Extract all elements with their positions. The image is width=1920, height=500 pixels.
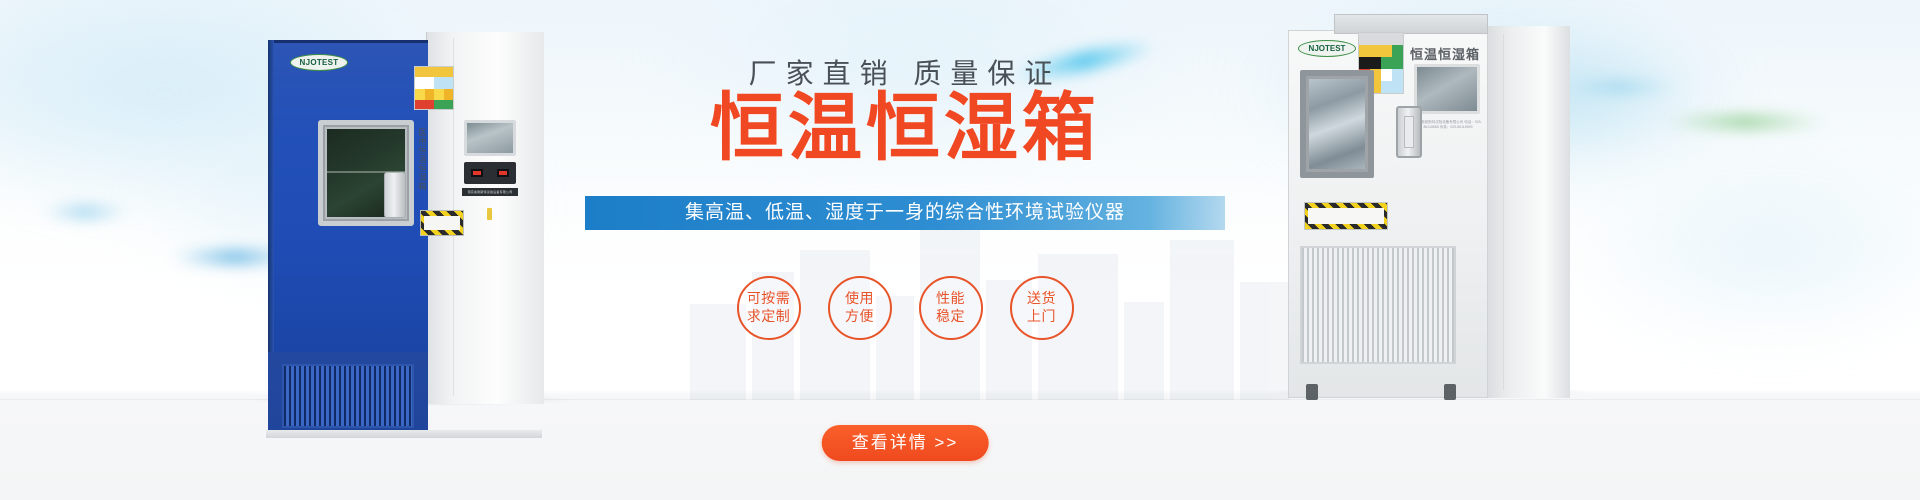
feature-badge-line1: 送货 <box>1027 290 1056 308</box>
feature-badge-line1: 性能 <box>936 290 965 308</box>
feature-badge-line2: 求定制 <box>747 308 791 326</box>
page-title: 恒温恒湿箱 <box>585 88 1225 168</box>
left-maker-strip: 南京奥耐斯特试验设备有限公司 <box>462 188 518 196</box>
product-image-left: NJOTEST 医用恒温恒湿箱 南京奥耐斯特试验设备有限公司 <box>268 32 544 404</box>
left-hazard-tape <box>420 210 464 236</box>
left-warning-label <box>414 66 454 110</box>
feature-badge-line1: 使用 <box>845 290 874 308</box>
promo-banner: NJOTEST 医用恒温恒湿箱 南京奥耐斯特试验设备有限公司 NJOTEST 恒… <box>0 0 1920 500</box>
cloud-wisp <box>1560 150 1920 350</box>
feature-badge-line2: 稳定 <box>936 308 965 326</box>
feature-badge[interactable]: 性能稳定 <box>919 276 983 340</box>
subtitle-bar: 集高温、低温、湿度于一身的综合性环境试验仪器 <box>585 196 1225 230</box>
light-streak <box>1560 80 1680 94</box>
right-maker-text: 南京奥耐斯特试验设备有限公司 电话：025-86118888 传真：025-86… <box>1414 120 1482 131</box>
right-cabinet-leg <box>1444 384 1456 400</box>
feature-badge-line1: 可按需 <box>747 290 791 308</box>
banner-content: 厂家直销 质量保证 恒温恒湿箱 集高温、低温、湿度于一身的综合性环境试验仪器 可… <box>585 0 1225 500</box>
feature-badge-line2: 方便 <box>845 308 874 326</box>
right-cabinet-leg <box>1306 384 1318 400</box>
feature-badge[interactable]: 使用方便 <box>828 276 892 340</box>
right-vent-grille <box>1300 246 1456 364</box>
left-cabinet-door-edge <box>268 40 274 352</box>
right-hazard-tape <box>1304 202 1388 230</box>
left-touch-screen <box>464 120 516 156</box>
right-view-window <box>1300 70 1374 178</box>
left-cabinet-latch <box>487 208 492 220</box>
left-brand-logo: NJOTEST <box>290 54 348 71</box>
right-door-handle <box>1396 106 1422 158</box>
right-cabinet-top-vent <box>1334 14 1488 34</box>
feature-badge[interactable]: 可按需求定制 <box>737 276 801 340</box>
left-control-readout <box>464 162 516 184</box>
left-door-handle <box>384 172 406 218</box>
feature-badge-list: 可按需求定制使用方便性能稳定送货上门 <box>585 276 1225 340</box>
right-touch-screen <box>1414 64 1480 114</box>
left-vent-grille <box>282 364 414 428</box>
left-panel-label: 医用恒温恒湿箱 <box>418 128 428 188</box>
view-details-button[interactable]: 查看详情 >> <box>822 425 989 461</box>
product-image-right: NJOTEST 恒温恒湿箱 南京奥耐斯特试验设备有限公司 电话：025-8611… <box>1288 14 1570 400</box>
right-brand-logo: NJOTEST <box>1298 40 1356 57</box>
left-cabinet-foot <box>266 430 542 438</box>
feature-badge-line2: 上门 <box>1027 308 1056 326</box>
feature-badge[interactable]: 送货上门 <box>1010 276 1074 340</box>
right-panel-title: 恒温恒湿箱 <box>1410 44 1480 63</box>
right-cabinet-side <box>1484 26 1570 398</box>
light-streak <box>40 205 130 219</box>
light-streak <box>1660 115 1830 129</box>
